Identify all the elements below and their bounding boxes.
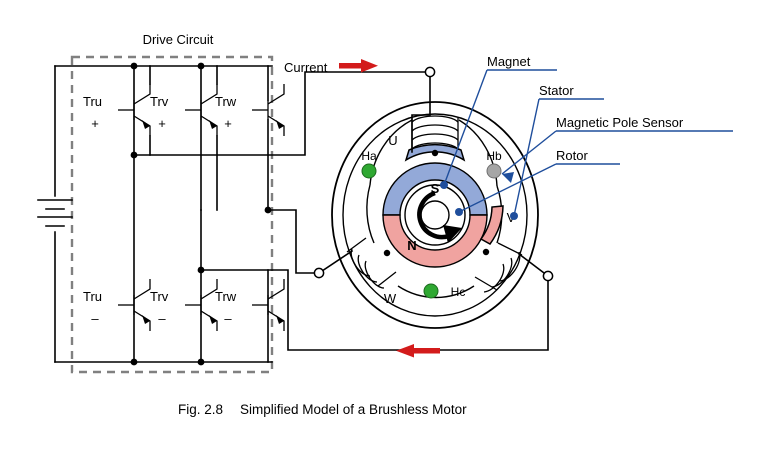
transistor-sign-tru-plus: + — [91, 116, 99, 131]
hall-sensor-hb-dot — [487, 164, 501, 178]
coil-tap-u — [432, 150, 438, 156]
transistor-label-trv-plus: Trv — [150, 94, 169, 109]
hall-sensor-hc-dot — [424, 284, 438, 298]
hall-sensor-hb-label: Hb — [486, 149, 502, 163]
current-arrow-bottom-icon — [396, 344, 440, 358]
transistor-sign-trv-plus: + — [158, 116, 166, 131]
current-arrow-top-icon — [339, 59, 378, 73]
transistor-sign-tru-minus: – — [91, 311, 99, 326]
transistor-trv-plus — [185, 66, 217, 210]
junction-node — [198, 359, 205, 366]
transistor-sign-trv-minus: – — [158, 311, 166, 326]
pole-label-n: N — [407, 238, 416, 253]
figure-canvas: Tru + Trv + Trw + — [0, 0, 765, 451]
figure-caption-text: Simplified Model of a Brushless Motor — [240, 402, 467, 417]
transistor-sign-trw-minus: – — [224, 311, 232, 326]
brushless-motor-diagram: Tru + Trv + Trw + — [0, 0, 765, 451]
transistor-label-trv-minus: Trv — [150, 289, 169, 304]
current-label: Current — [284, 60, 328, 75]
hall-sensor-ha-label: Ha — [361, 149, 377, 163]
transistor-trw-plus — [252, 66, 284, 210]
callout-label-rotor: Rotor — [556, 148, 588, 163]
coil-tap-w — [384, 250, 390, 256]
transistor-label-trw-minus: Trw — [215, 289, 237, 304]
transistor-tru-minus — [118, 155, 150, 362]
transistor-label-tru-minus: Tru — [83, 289, 102, 304]
transistor-trw-minus — [252, 270, 284, 362]
drive-circuit-title: Drive Circuit — [143, 32, 214, 47]
phase-label-u: U — [388, 133, 397, 148]
callout-label-magnet: Magnet — [487, 54, 531, 69]
terminal-v[interactable] — [543, 271, 552, 280]
callout-label-magnetic-pole-sensor: Magnetic Pole Sensor — [556, 115, 684, 130]
junction-node — [198, 63, 205, 70]
transistor-trv-minus — [185, 210, 217, 362]
phase-label-w: W — [384, 291, 397, 306]
phase-lead-w — [268, 210, 319, 273]
transistor-sign-trw-plus: + — [224, 116, 232, 131]
transistor-tru-plus — [118, 66, 150, 155]
junction-node — [131, 63, 138, 70]
rotor-shaft — [421, 201, 449, 229]
hall-sensor-hc-label: Hc — [451, 285, 466, 299]
junction-node — [131, 359, 138, 366]
hall-sensor-ha-dot — [362, 164, 376, 178]
rotor-magnet-ring — [383, 163, 487, 267]
transistor-label-trw-plus: Trw — [215, 94, 237, 109]
coil-tap-v — [483, 249, 489, 255]
terminal-u[interactable] — [425, 67, 434, 76]
pole-label-s: S — [431, 181, 440, 196]
figure-caption-number: Fig. 2.8 — [178, 402, 223, 417]
transistor-label-tru-plus: Tru — [83, 94, 102, 109]
terminal-w[interactable] — [314, 268, 323, 277]
callout-label-stator: Stator — [539, 83, 574, 98]
battery-symbol — [38, 200, 72, 226]
callout-magnetic-pole-sensor — [502, 131, 733, 183]
